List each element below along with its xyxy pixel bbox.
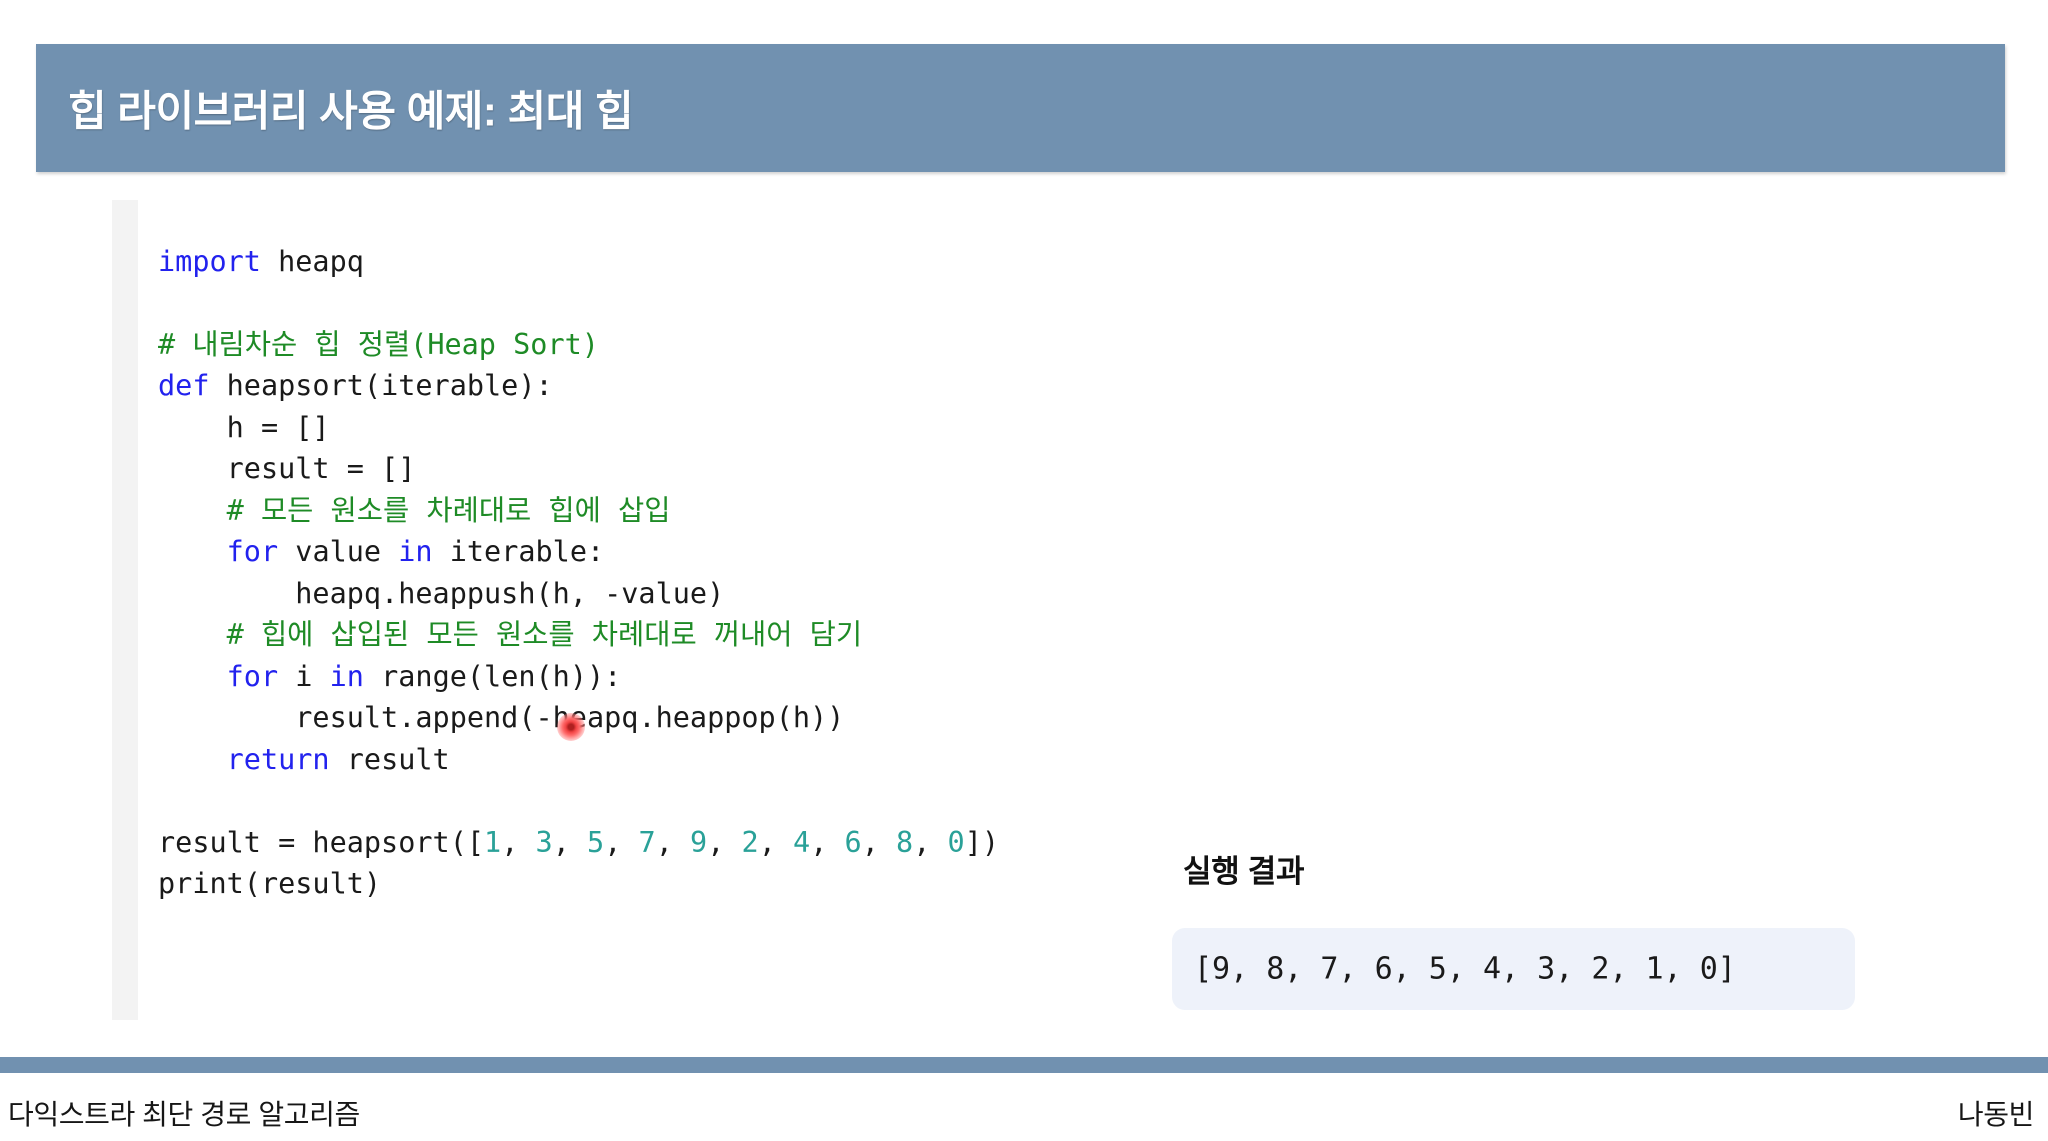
code-number: 0 xyxy=(948,826,965,859)
page-title: 힙 라이브러리 사용 예제: 최대 힙 xyxy=(68,78,633,139)
code-number: 5 xyxy=(587,826,604,859)
result-output-box: [9, 8, 7, 6, 5, 4, 3, 2, 1, 0] xyxy=(1172,928,1855,1010)
code-keyword: for xyxy=(227,535,278,568)
code-number: 6 xyxy=(845,826,862,859)
code-text: result xyxy=(330,743,450,776)
code-keyword: in xyxy=(330,660,364,693)
code-line: # 내림차순 힙 정렬(Heap Sort) xyxy=(158,324,999,366)
footer-author-label: 나동빈 xyxy=(1958,1093,2034,1133)
code-text: , xyxy=(759,826,793,859)
code-line: import heapq xyxy=(158,241,999,283)
code-number: 4 xyxy=(793,826,810,859)
code-text xyxy=(158,618,227,651)
code-keyword: def xyxy=(158,369,209,402)
result-output-text: [9, 8, 7, 6, 5, 4, 3, 2, 1, 0] xyxy=(1194,952,1736,987)
code-number: 1 xyxy=(484,826,501,859)
code-text: result = heapsort([ xyxy=(158,826,484,859)
code-line: print(result) xyxy=(158,863,999,905)
code-line: # 힙에 삽입된 모든 원소를 차례대로 꺼내어 담기 xyxy=(158,614,999,656)
code-text: heapsort(iterable): xyxy=(209,369,552,402)
code-keyword: import xyxy=(158,245,261,278)
code-line: for value in iterable: xyxy=(158,531,999,573)
code-text xyxy=(158,535,227,568)
code-number: 3 xyxy=(536,826,553,859)
code-text: , xyxy=(604,826,638,859)
code-line: result = [] xyxy=(158,448,999,490)
code-number: 8 xyxy=(896,826,913,859)
slide-title-bar: 힙 라이브러리 사용 예제: 최대 힙 xyxy=(36,44,2005,172)
code-text xyxy=(158,494,227,527)
code-line xyxy=(158,282,999,324)
footer-divider-bar xyxy=(0,1057,2048,1073)
code-text: ]) xyxy=(965,826,999,859)
code-text: , xyxy=(810,826,844,859)
code-text: , xyxy=(862,826,896,859)
footer-subject-label: 다익스트라 최단 경로 알고리즘 xyxy=(8,1093,360,1133)
code-line: for i in range(len(h)): xyxy=(158,656,999,698)
code-block: import heapq# 내림차순 힙 정렬(Heap Sort)def he… xyxy=(158,241,999,905)
laser-pointer-dot xyxy=(557,713,585,741)
code-keyword: for xyxy=(227,660,278,693)
code-text: , xyxy=(553,826,587,859)
code-text xyxy=(158,660,227,693)
result-label: 실행 결과 xyxy=(1183,846,1304,891)
code-text: heapq xyxy=(261,245,364,278)
code-text: result.append(-heapq.heappop(h)) xyxy=(158,701,844,734)
code-line: return result xyxy=(158,739,999,781)
code-text: print(result) xyxy=(158,867,381,900)
code-line: def heapsort(iterable): xyxy=(158,365,999,407)
code-text: , xyxy=(656,826,690,859)
code-text: , xyxy=(913,826,947,859)
code-text: , xyxy=(501,826,535,859)
code-text: i xyxy=(278,660,329,693)
code-text: , xyxy=(707,826,741,859)
code-line: result = heapsort([1, 3, 5, 7, 9, 2, 4, … xyxy=(158,822,999,864)
code-line: # 모든 원소를 차례대로 힙에 삽입 xyxy=(158,490,999,532)
code-keyword: return xyxy=(227,743,330,776)
code-number: 2 xyxy=(742,826,759,859)
code-line: h = [] xyxy=(158,407,999,449)
code-comment: # 모든 원소를 차례대로 힙에 삽입 xyxy=(227,494,671,527)
code-line xyxy=(158,780,999,822)
code-text: result = [] xyxy=(158,452,415,485)
code-text: range(len(h)): xyxy=(364,660,621,693)
code-comment: # 힙에 삽입된 모든 원소를 차례대로 꺼내어 담기 xyxy=(227,618,862,651)
code-gutter-bar xyxy=(112,200,138,1020)
code-keyword: in xyxy=(398,535,432,568)
code-number: 9 xyxy=(690,826,707,859)
code-text: heapq.heappush(h, -value) xyxy=(158,577,724,610)
code-comment: # 내림차순 힙 정렬(Heap Sort) xyxy=(158,328,599,361)
code-text: value xyxy=(278,535,398,568)
code-text: iterable: xyxy=(433,535,605,568)
code-text: h = [] xyxy=(158,411,330,444)
code-number: 7 xyxy=(639,826,656,859)
code-text xyxy=(158,743,227,776)
code-line: heapq.heappush(h, -value) xyxy=(158,573,999,615)
